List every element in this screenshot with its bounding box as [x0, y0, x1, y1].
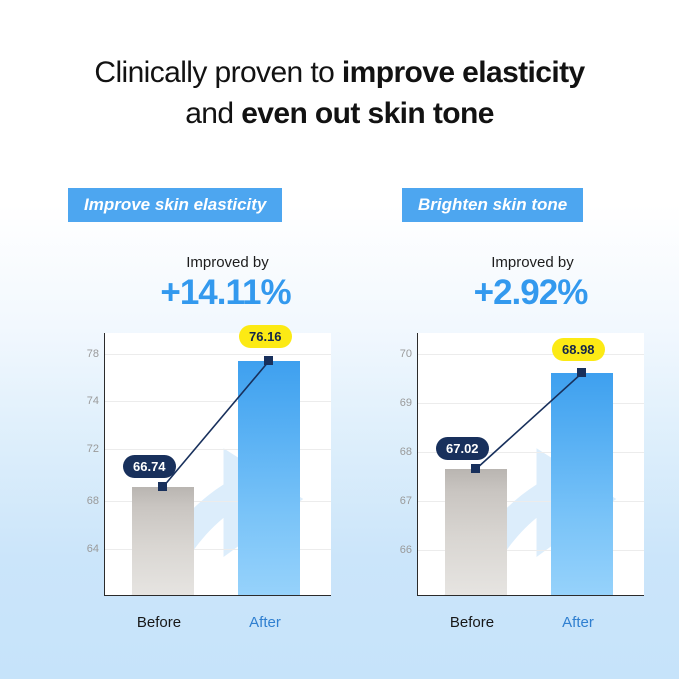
data-point-marker-before	[158, 482, 167, 491]
improved-by-label: Improved by	[404, 254, 661, 271]
headline-line-2-plain: and	[185, 97, 241, 130]
category-label-before: Before	[99, 614, 219, 631]
improvement-callout-skintone: Improved by +2.92%	[356, 254, 661, 313]
value-badge-after: 68.98	[552, 338, 605, 361]
page-headline: Clinically proven to improve elasticity …	[0, 52, 679, 134]
charts-container: Improve skin elasticity Improved by +14.…	[0, 188, 679, 648]
data-point-marker-after	[264, 356, 273, 365]
data-point-marker-after	[577, 368, 586, 377]
data-point-marker-before	[471, 464, 480, 473]
trend-connector-line	[382, 333, 644, 611]
category-label-after: After	[205, 614, 325, 631]
plot-area-skintone: 70 69 68 67 66 67.02 68.98 Before After	[382, 333, 644, 611]
improvement-percent: +2.92%	[400, 273, 661, 313]
value-badge-before: 66.74	[123, 455, 176, 478]
value-badge-after: 76.16	[239, 325, 292, 348]
value-badge-before: 67.02	[436, 437, 489, 460]
improved-by-label: Improved by	[107, 254, 348, 271]
headline-line-2-bold: even out skin tone	[241, 97, 494, 130]
chart-banner-elasticity: Improve skin elasticity	[68, 188, 282, 222]
chart-panel-elasticity: Improve skin elasticity Improved by +14.…	[43, 188, 348, 648]
headline-line-1-plain: Clinically proven to	[94, 56, 342, 89]
category-label-after: After	[518, 614, 638, 631]
improvement-callout-elasticity: Improved by +14.11%	[43, 254, 348, 313]
trend-connector-line	[69, 333, 331, 611]
headline-line-1: Clinically proven to improve elasticity	[0, 52, 679, 93]
chart-panel-skintone: Brighten skin tone Improved by +2.92% 70…	[356, 188, 661, 648]
category-label-before: Before	[412, 614, 532, 631]
headline-line-2: and even out skin tone	[0, 93, 679, 134]
chart-banner-skintone: Brighten skin tone	[402, 188, 583, 222]
plot-area-elasticity: 78 74 72 68 64 66.74 76.16 Before After	[69, 333, 331, 611]
improvement-percent: +14.11%	[103, 273, 348, 313]
headline-line-1-bold: improve elasticity	[342, 56, 585, 89]
